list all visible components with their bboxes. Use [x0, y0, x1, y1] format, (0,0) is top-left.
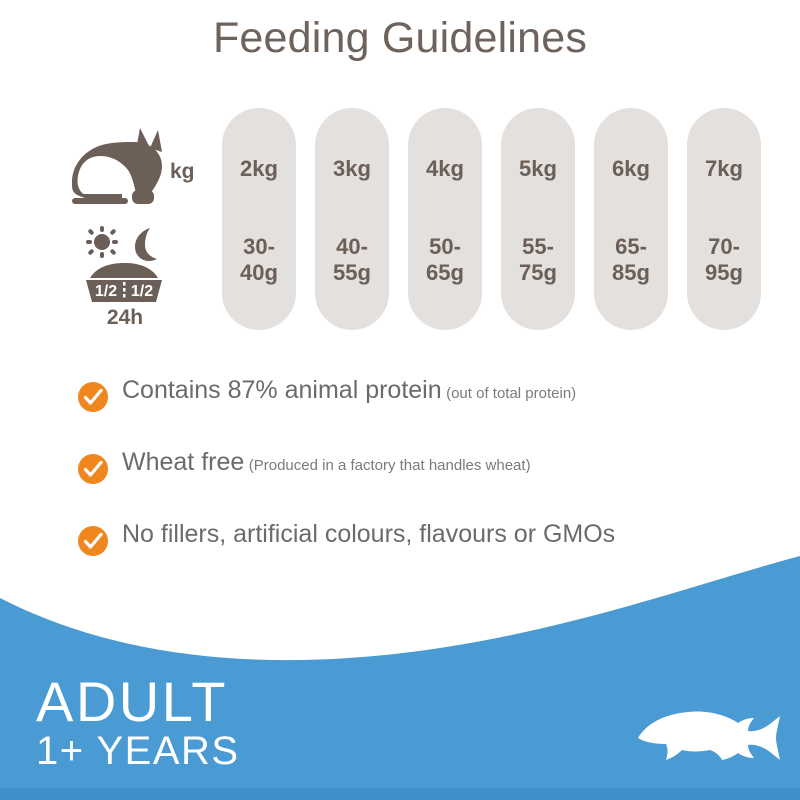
amount-line-2: 75g — [519, 260, 557, 285]
benefit-main-text: No fillers, artificial colours, flavours… — [122, 520, 615, 548]
benefit-note-text: (out of total protein) — [446, 385, 576, 402]
weight-unit-label: kg — [170, 160, 195, 184]
column-weight-label: 2kg — [222, 158, 296, 180]
amount-line-2: 95g — [705, 260, 743, 285]
benefit-main-text: Contains 87% animal protein — [122, 376, 442, 404]
benefit-item: No fillers, artificial colours, flavours… — [78, 524, 758, 596]
amount-line-1: 55- — [522, 234, 554, 259]
amount-line-1: 50- — [429, 234, 461, 259]
column-amount-label: 50- 65g — [408, 234, 482, 286]
feeding-table-row-labels: kg — [62, 108, 212, 336]
column-weight-label: 6kg — [594, 158, 668, 180]
benefits-list: Contains 87% animal protein (out of tota… — [78, 380, 758, 596]
benefit-item: Contains 87% animal protein (out of tota… — [78, 380, 758, 452]
column-amount-label: 30- 40g — [222, 234, 296, 286]
check-circle-icon — [78, 454, 108, 484]
feeding-table-columns: 2kg 30- 40g 3kg 40- 55g 4kg 50- 65g — [222, 108, 762, 336]
column-amount-label: 65- 85g — [594, 234, 668, 286]
benefit-text: No fillers, artificial colours, flavours… — [122, 520, 615, 549]
amount-line-1: 65- — [615, 234, 647, 259]
amount-line-1: 30- — [243, 234, 275, 259]
column-weight-label: 7kg — [687, 158, 761, 180]
sun-icon — [86, 226, 118, 258]
bowl-fraction-left: 1/2 — [95, 283, 117, 300]
feeding-column-3: 4kg 50- 65g — [408, 108, 482, 330]
life-stage-block: ADULT 1+ YEARS — [36, 676, 240, 772]
benefit-note-text: (Produced in a factory that handles whea… — [249, 457, 531, 474]
feeding-column-5: 6kg 65- 85g — [594, 108, 668, 330]
feeding-guidelines-panel: Feeding Guidelines kg — [0, 0, 800, 800]
fish-icon — [630, 690, 790, 780]
feeding-column-6: 7kg 70- 95g — [687, 108, 761, 330]
column-amount-label: 55- 75g — [501, 234, 575, 286]
life-stage-label: ADULT — [36, 676, 240, 728]
benefit-item: Wheat free (Produced in a factory that h… — [78, 452, 758, 524]
column-weight-label: 4kg — [408, 158, 482, 180]
amount-line-1: 40- — [336, 234, 368, 259]
feeding-bowl-icon: 1/2 1/2 — [72, 226, 178, 306]
column-weight-label: 5kg — [501, 158, 575, 180]
check-circle-icon — [78, 526, 108, 556]
column-amount-label: 70- 95g — [687, 234, 761, 286]
amount-line-1: 70- — [708, 234, 740, 259]
amount-line-2: 65g — [426, 260, 464, 285]
portion-row-label: 1/2 1/2 24h — [62, 226, 212, 336]
age-range-label: 1+ YEARS — [36, 730, 240, 772]
moon-icon — [135, 228, 157, 261]
column-amount-label: 40- 55g — [315, 234, 389, 286]
column-weight-label: 3kg — [315, 158, 389, 180]
benefit-text: Wheat free (Produced in a factory that h… — [122, 448, 531, 477]
amount-line-2: 55g — [333, 260, 371, 285]
benefit-main-text: Wheat free — [122, 448, 244, 476]
cat-silhouette-icon — [70, 110, 170, 210]
feeding-column-1: 2kg 30- 40g — [222, 108, 296, 330]
benefit-text: Contains 87% animal protein (out of tota… — [122, 376, 576, 405]
amount-line-2: 85g — [612, 260, 650, 285]
portion-period-label: 24h — [72, 306, 178, 330]
amount-line-2: 40g — [240, 260, 278, 285]
page-title: Feeding Guidelines — [0, 14, 800, 63]
feeding-table: kg — [0, 108, 800, 336]
feeding-column-4: 5kg 55- 75g — [501, 108, 575, 330]
bowl-fraction-right: 1/2 — [131, 283, 153, 300]
check-circle-icon — [78, 382, 108, 412]
weight-row-label: kg — [62, 110, 212, 214]
feeding-column-2: 3kg 40- 55g — [315, 108, 389, 330]
